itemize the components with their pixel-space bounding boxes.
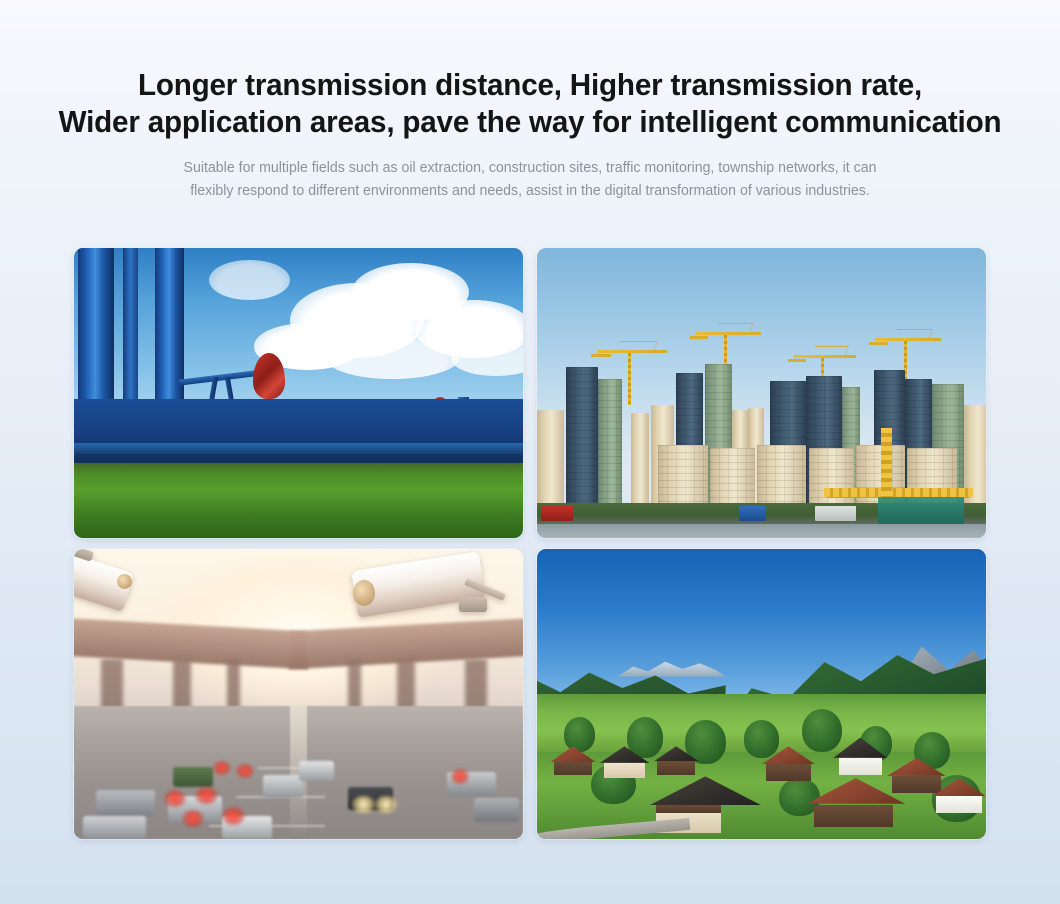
oil-extraction-illustration xyxy=(74,248,523,538)
tower-crane-jib-foreground xyxy=(824,488,972,497)
midrise-block xyxy=(710,448,755,509)
subtitle-line-1: Suitable for multiple fields such as oil… xyxy=(16,157,1044,180)
scenario-image-oil-extraction[interactable]: Oil extraction field with blue pump jack… xyxy=(74,248,523,538)
brake-light xyxy=(195,787,217,804)
headline-line-1: Longer transmission distance, Higher tra… xyxy=(24,66,1036,103)
subtitle-line-2: flexibly respond to different environmen… xyxy=(16,180,1044,203)
vehicle xyxy=(173,767,213,787)
house-roof xyxy=(654,746,699,761)
camera-lens xyxy=(117,574,132,589)
pipeline xyxy=(74,443,523,454)
crane-stay xyxy=(713,323,753,333)
house-wall xyxy=(936,796,981,813)
cctv-camera-icon xyxy=(348,555,510,630)
house-roof xyxy=(833,738,887,758)
headlight xyxy=(375,796,397,813)
crane-counter-jib xyxy=(869,342,888,345)
scenario-image-township-network[interactable]: Alpine township village with chalets, gr… xyxy=(537,549,986,839)
house-wall xyxy=(604,762,645,778)
application-scenarios-section: Longer transmission distance, Higher tra… xyxy=(0,0,1060,904)
house-wall xyxy=(554,760,592,775)
house-roof xyxy=(806,778,905,804)
vehicle xyxy=(83,816,146,839)
house-roof xyxy=(550,746,595,762)
construction-site-illustration xyxy=(537,248,986,538)
heading-block: Longer transmission distance, Higher tra… xyxy=(0,0,1060,203)
billboard-white xyxy=(815,506,855,521)
crane-stay xyxy=(811,346,849,356)
page-subtitle: Suitable for multiple fields such as oil… xyxy=(16,157,1044,203)
house-roof xyxy=(762,746,816,764)
house-wall xyxy=(839,755,882,775)
grass-field xyxy=(74,463,523,538)
house-wall xyxy=(814,805,893,828)
crane-mast xyxy=(628,350,631,405)
vehicle xyxy=(263,775,303,798)
crane-counter-jib xyxy=(788,359,806,362)
midrise-block xyxy=(658,445,707,509)
vehicle xyxy=(474,798,519,821)
house-wall xyxy=(766,764,811,781)
crane-stay xyxy=(893,329,933,339)
crane-counter-jib xyxy=(591,354,611,357)
brake-light xyxy=(236,764,254,779)
house-roof xyxy=(887,758,945,776)
scenario-image-traffic-monitoring[interactable]: Two CCTV surveillance cameras mounted on… xyxy=(74,549,523,839)
crane-stay xyxy=(616,341,658,351)
house-roof xyxy=(600,746,649,763)
house-upper-wall xyxy=(656,804,721,813)
house-roof xyxy=(932,778,986,796)
crane-counter-jib xyxy=(690,336,709,339)
residential-tower xyxy=(631,413,649,509)
road xyxy=(537,524,986,539)
brake-light xyxy=(222,807,244,824)
chalet xyxy=(932,778,986,813)
safety-netting xyxy=(878,497,963,523)
township-village-illustration xyxy=(537,549,986,839)
headline-line-2: Wider application areas, pave the way fo… xyxy=(24,103,1036,140)
house-wall xyxy=(657,761,695,776)
counterweight xyxy=(253,353,285,399)
vehicle xyxy=(96,790,154,816)
manor-house xyxy=(833,738,887,776)
tower-under-construction xyxy=(598,379,623,510)
camera-mount xyxy=(459,597,486,612)
tower-under-construction xyxy=(566,367,597,509)
chalet xyxy=(600,746,649,778)
vehicle xyxy=(299,761,335,781)
page-title: Longer transmission distance, Higher tra… xyxy=(24,66,1036,140)
brake-light xyxy=(451,769,469,784)
scenario-image-construction-site[interactable]: Urban construction site with high-rise r… xyxy=(537,248,986,538)
headlight xyxy=(352,796,374,813)
chalet-foreground xyxy=(806,778,905,827)
chalet xyxy=(762,746,816,781)
residential-tower xyxy=(537,410,564,509)
cloud-icon xyxy=(209,260,290,301)
midrise-block xyxy=(809,448,854,509)
chalet xyxy=(654,746,699,775)
refinery-structures xyxy=(74,352,523,462)
cctv-camera-icon xyxy=(74,552,137,616)
chalet xyxy=(550,746,595,775)
billboard-red xyxy=(541,506,572,521)
house-roof xyxy=(649,776,761,805)
billboard-blue xyxy=(739,506,766,521)
scenario-image-grid: Oil extraction field with blue pump jack… xyxy=(74,248,986,839)
midrise-block xyxy=(757,445,806,509)
traffic-monitoring-illustration xyxy=(74,549,523,839)
